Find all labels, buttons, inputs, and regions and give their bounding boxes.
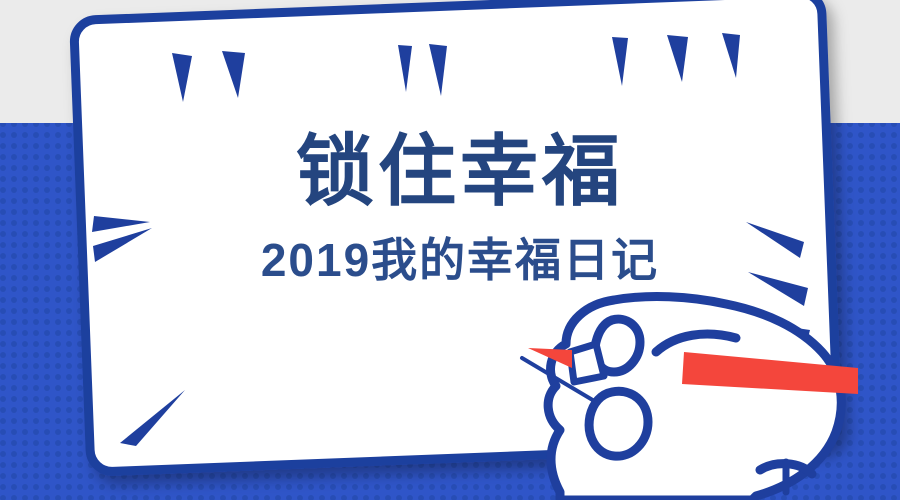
poster-title: 锁住幸福 — [296, 127, 624, 215]
poster-subtitle: 2019我的幸福日记 — [261, 234, 659, 286]
pen-neck — [570, 344, 604, 382]
poster-canvas: 锁住幸福 2019我的幸福日记 — [0, 0, 900, 500]
finger-loop-lower — [589, 391, 648, 456]
poster-artwork: 锁住幸福 2019我的幸福日记 — [0, 0, 900, 500]
